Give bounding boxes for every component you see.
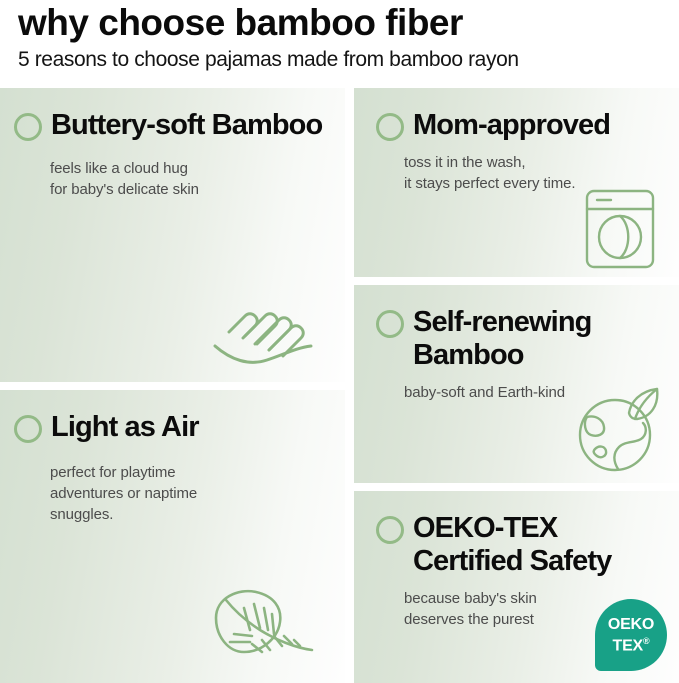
circle-bullet-icon [14, 415, 42, 443]
benefit-card-buttery-soft-bamboo[interactable]: Buttery-soft Bamboo feels like a cloud h… [0, 88, 345, 382]
benefits-grid: Buttery-soft Bamboo feels like a cloud h… [0, 88, 679, 683]
card-header: Light as Air [0, 390, 345, 444]
card-title: Buttery-soft Bamboo [51, 107, 322, 142]
feather-icon [200, 578, 325, 673]
card-title: OEKO-TEX Certified Safety [413, 510, 665, 578]
card-header: Buttery-soft Bamboo [0, 88, 345, 142]
circle-bullet-icon [376, 113, 404, 141]
oeko-badge-line1: OEKO [608, 616, 654, 633]
card-title: Light as Air [51, 409, 199, 444]
oeko-badge-line2-text: TEX [613, 637, 644, 654]
page-subtitle: 5 reasons to choose pajamas made from ba… [18, 44, 679, 73]
page-header: why choose bamboo fiber 5 reasons to cho… [0, 0, 679, 86]
hand-icon [207, 280, 327, 376]
oeko-tex-badge-icon: OEKO TEX® [595, 599, 667, 671]
benefit-card-self-renewing-bamboo[interactable]: Self-renewing Bamboo baby-soft and Earth… [354, 285, 679, 483]
card-header: Self-renewing Bamboo [354, 285, 679, 372]
circle-bullet-icon [376, 310, 404, 338]
benefit-card-mom-approved[interactable]: Mom-approved toss it in the wash, it sta… [354, 88, 679, 277]
page-title: why choose bamboo fiber [18, 0, 679, 44]
card-title: Mom-approved [413, 107, 610, 142]
card-header: Mom-approved [354, 88, 679, 142]
oeko-badge-line2: TEX® [613, 633, 650, 654]
card-header: OEKO-TEX Certified Safety [354, 491, 679, 578]
card-description: feels like a cloud hug for baby's delica… [0, 142, 345, 200]
card-description: baby-soft and Earth-kind [354, 372, 679, 403]
circle-bullet-icon [376, 516, 404, 544]
benefit-card-oeko-tex-certified-safety[interactable]: OEKO-TEX Certified Safety because baby's… [354, 491, 679, 683]
registered-mark: ® [643, 636, 649, 646]
card-description: toss it in the wash, it stays perfect ev… [354, 142, 679, 194]
card-description: perfect for playtime adventures or napti… [0, 444, 345, 525]
card-title: Self-renewing Bamboo [413, 304, 665, 372]
washing-machine-icon [579, 185, 661, 273]
benefit-card-light-as-air[interactable]: Light as Air perfect for playtime advent… [0, 390, 345, 683]
circle-bullet-icon [14, 113, 42, 141]
